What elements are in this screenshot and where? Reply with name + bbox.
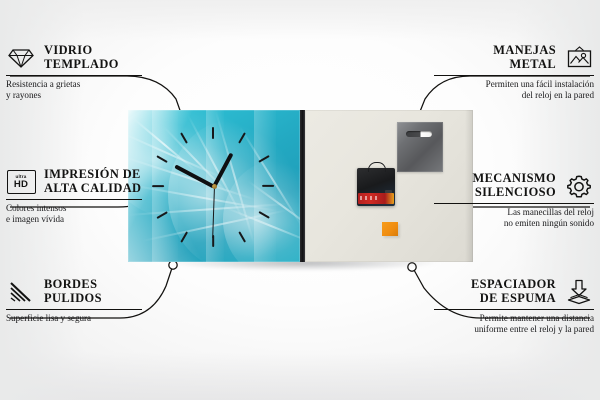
feature-divider [6, 75, 142, 76]
polished-edge-icon [6, 278, 36, 306]
ultra-hd-badge-icon: ultra HD [6, 168, 36, 196]
feature-title: IMPRESIÓN DE ALTA CALIDAD [44, 168, 141, 195]
feature-divider [434, 203, 594, 204]
feature-divider [6, 309, 142, 310]
feature-description: Colores intensos e imagen vívida [6, 203, 216, 225]
feature-manejas-metal: MANEJAS METAL Permiten una fácil instala… [384, 44, 594, 102]
feature-title: VIDRIO TEMPLADO [44, 44, 119, 71]
feature-divider [434, 309, 594, 310]
hanger-slot [406, 131, 432, 137]
feature-description: Resistencia a grietas y rayones [6, 79, 216, 101]
feature-divider [6, 199, 142, 200]
feature-description: Permite mantener una distancia uniforme … [384, 313, 594, 335]
diamond-icon [6, 44, 36, 72]
feature-description: Las manecillas del reloj no emiten ningú… [384, 207, 594, 229]
foam-spacer-arrow-icon [564, 278, 594, 306]
movement-hanger-loop [368, 162, 386, 172]
clock-marker [212, 127, 214, 139]
feature-mecanismo-silencioso: MECANISMO SILENCIOSO Las manecillas del … [384, 172, 594, 230]
feature-vidrio-templado: VIDRIO TEMPLADO Resistencia a grietas y … [6, 44, 216, 102]
feature-title: MECANISMO SILENCIOSO [473, 172, 556, 199]
feature-espaciador-espuma: ESPACIADOR DE ESPUMA Permite mantener un… [384, 278, 594, 336]
wall-frame-hanger-icon [564, 44, 594, 72]
feature-divider [434, 75, 594, 76]
infographic-canvas: VIDRIO TEMPLADO Resistencia a grietas y … [0, 0, 600, 400]
feature-bordes-pulidos: BORDES PULIDOS Superficie lisa y segura [6, 278, 216, 324]
metal-hanger-plate [397, 122, 443, 172]
clock-marker [262, 185, 274, 187]
feature-title: ESPACIADOR DE ESPUMA [471, 278, 556, 305]
ultra-hd-main-text: HD [14, 180, 28, 190]
gear-icon [564, 172, 594, 200]
feature-impresion-alta-calidad: ultra HD IMPRESIÓN DE ALTA CALIDAD Color… [6, 168, 216, 226]
feature-description: Superficie lisa y segura [6, 313, 216, 324]
feature-title: MANEJAS METAL [493, 44, 556, 71]
feature-description: Permiten una fácil instalación del reloj… [384, 79, 594, 101]
feature-title: BORDES PULIDOS [44, 278, 102, 305]
